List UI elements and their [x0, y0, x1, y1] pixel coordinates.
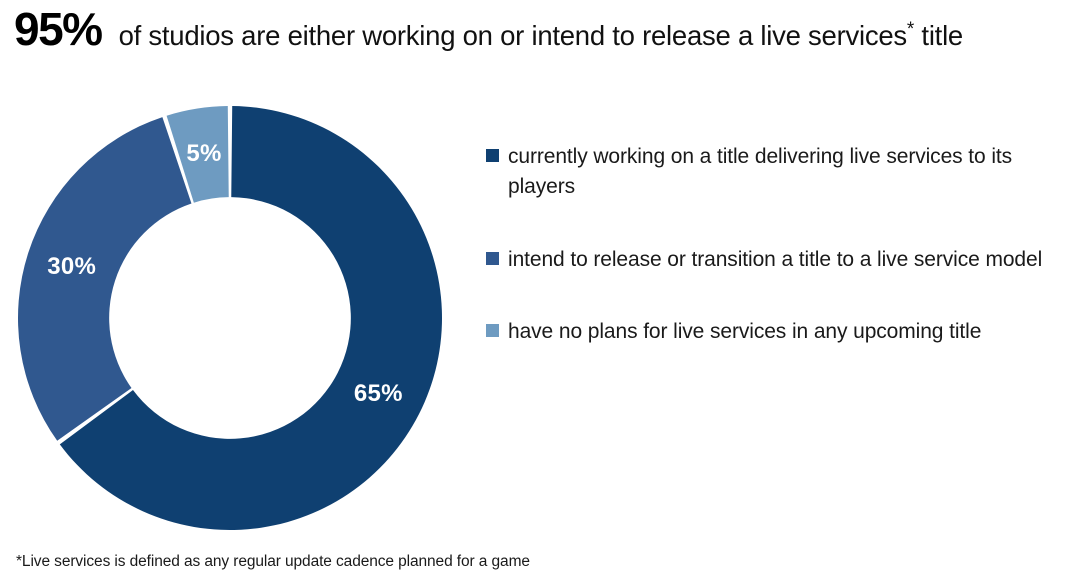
- headline-text: of studios are either working on or inte…: [119, 22, 963, 50]
- donut-chart: 65%30%5%: [10, 98, 450, 538]
- legend-item-label: have no plans for live services in any u…: [508, 317, 981, 347]
- legend-item[interactable]: have no plans for live services in any u…: [486, 317, 1072, 347]
- headline-footnote-marker: *: [907, 19, 914, 40]
- chart-legend: currently working on a title delivering …: [486, 142, 1072, 347]
- headline: 95% of studios are either working on or …: [14, 6, 1074, 62]
- headline-text-main: of studios are either working on or inte…: [119, 20, 907, 51]
- legend-item[interactable]: intend to release or transition a title …: [486, 245, 1072, 275]
- legend-item-label: intend to release or transition a title …: [508, 245, 1042, 275]
- legend-item-label: currently working on a title delivering …: [508, 142, 1068, 202]
- headline-text-tail: title: [914, 20, 963, 51]
- legend-swatch-intend-to-release: [486, 252, 499, 265]
- legend-swatch-currently-working: [486, 149, 499, 162]
- donut-slice[interactable]: [18, 117, 191, 441]
- donut-slice-group: [18, 106, 442, 530]
- donut-slice-label: 5%: [186, 140, 221, 167]
- legend-item[interactable]: currently working on a title delivering …: [486, 142, 1072, 202]
- footnote: *Live services is defined as any regular…: [16, 553, 530, 571]
- legend-swatch-no-plans: [486, 324, 499, 337]
- donut-slice-label: 30%: [47, 253, 96, 280]
- headline-stat: 95%: [14, 6, 102, 52]
- donut-chart-svg: 65%30%5%: [10, 98, 450, 538]
- donut-slice-label: 65%: [354, 380, 403, 407]
